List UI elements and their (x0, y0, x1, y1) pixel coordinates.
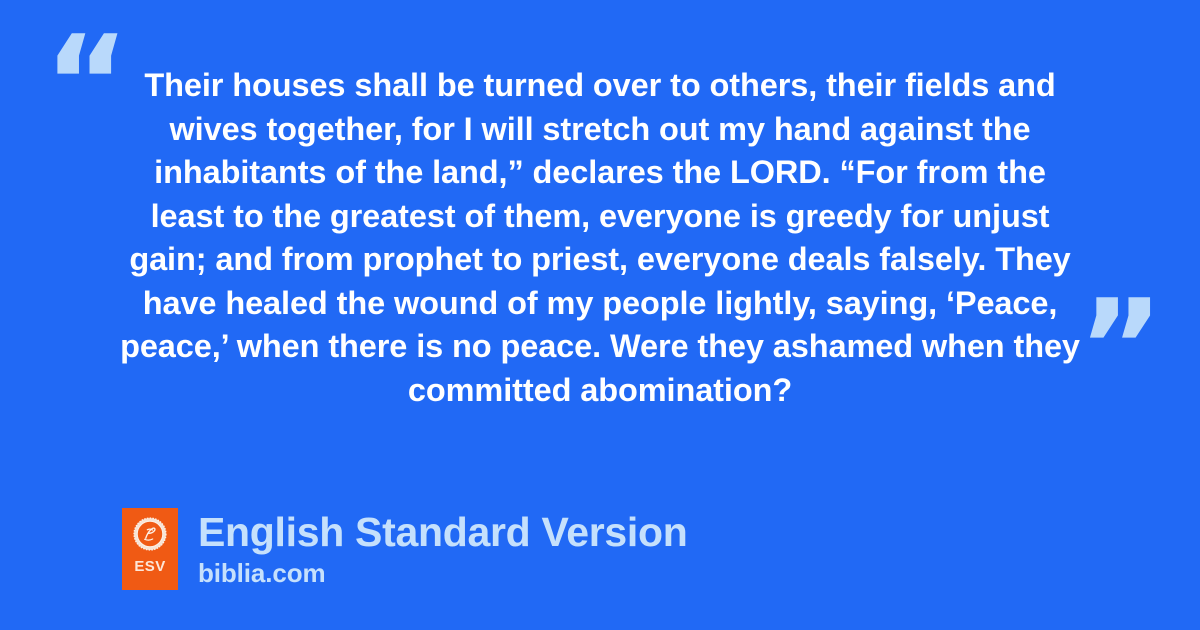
esv-logo-label: ESV (134, 559, 165, 574)
quote-area: “ Their houses shall be turned over to o… (0, 0, 1200, 470)
bible-version-title: English Standard Version (198, 508, 687, 556)
brand-block: ESV English Standard Version biblia.com (122, 508, 687, 590)
close-quote-icon: ” (1078, 282, 1163, 412)
verse-text: Their houses shall be turned over to oth… (118, 64, 1082, 412)
bible-verse-card: “ Their houses shall be turned over to o… (0, 0, 1200, 630)
esv-seal-icon (133, 517, 167, 551)
site-url: biblia.com (198, 558, 687, 588)
open-quote-icon: “ (44, 18, 129, 148)
brand-text-block: English Standard Version biblia.com (198, 508, 687, 588)
esv-logo: ESV (122, 508, 178, 590)
